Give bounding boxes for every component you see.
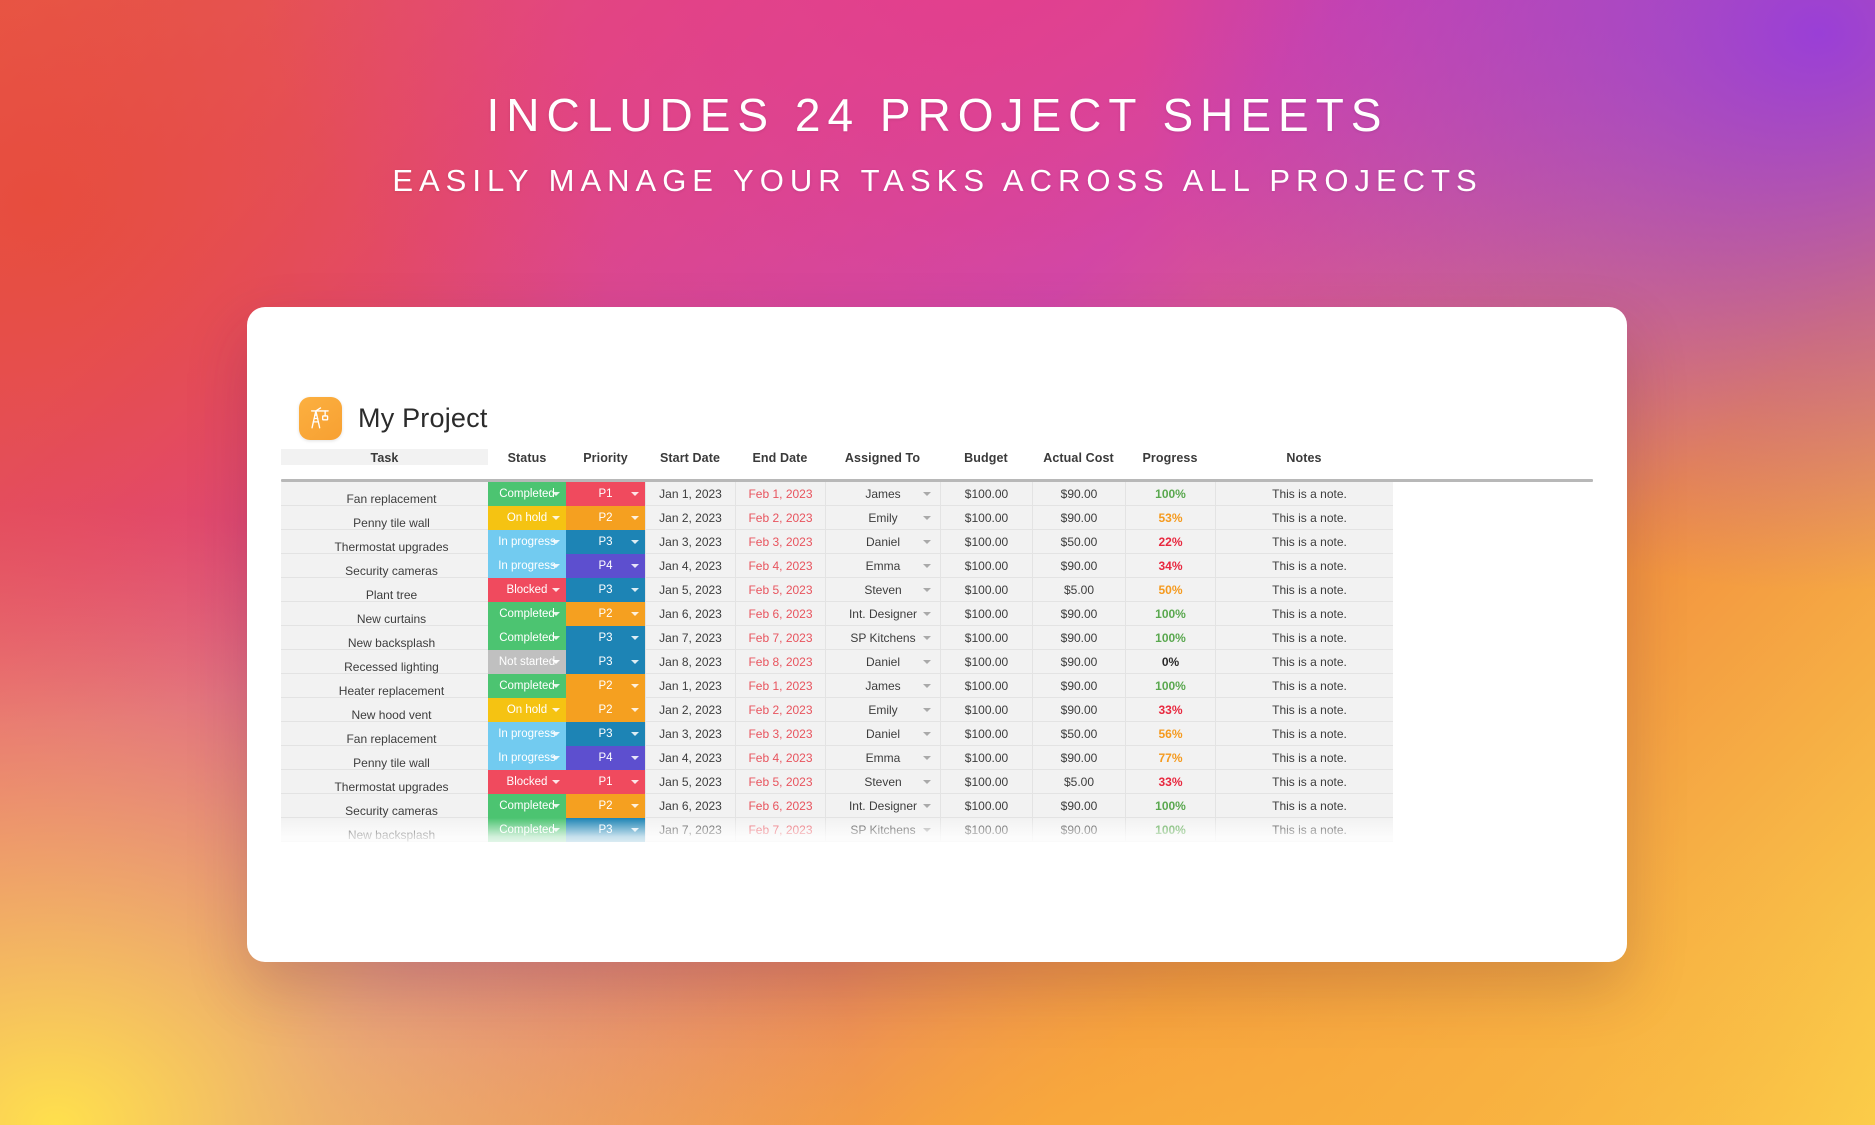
cell-start-date[interactable]: Jan 6, 2023 — [645, 602, 735, 626]
cell-assigned-to[interactable]: Int. Designer — [825, 602, 940, 626]
cell-actual-cost[interactable]: $5.00 — [1032, 578, 1125, 602]
construction-crane-icon — [299, 397, 342, 440]
cell-budget[interactable]: $100.00 — [940, 770, 1032, 794]
cell-task[interactable]: New backsplash — [281, 818, 488, 842]
cell-priority[interactable]: P3 — [566, 626, 645, 650]
task-label: Fan replacement — [346, 492, 436, 506]
cell-task[interactable]: Penny tile wall — [281, 746, 488, 770]
chevron-down-icon — [552, 516, 560, 520]
table-row[interactable]: Plant treeBlockedP3Jan 5, 2023Feb 5, 202… — [281, 578, 1593, 602]
status-badge[interactable]: Completed — [488, 602, 566, 626]
project-header: My Project — [299, 397, 488, 440]
chevron-down-icon — [552, 660, 560, 664]
banner-subtitle: EASILY MANAGE YOUR TASKS ACROSS ALL PROJ… — [0, 165, 1875, 196]
task-label: New hood vent — [351, 708, 431, 722]
cell-budget[interactable]: $100.00 — [940, 722, 1032, 746]
cell-notes[interactable]: This is a note. — [1215, 602, 1393, 626]
chevron-down-icon — [552, 612, 560, 616]
cell-progress[interactable]: 50% — [1125, 578, 1215, 602]
table-header-row: Task Status Priority Start Date End Date… — [281, 449, 1593, 475]
cell-actual-cost[interactable]: $50.00 — [1032, 530, 1125, 554]
cell-status[interactable]: On hold — [488, 506, 566, 530]
cell-priority[interactable]: P2 — [566, 698, 645, 722]
cell-end-date[interactable]: Feb 4, 2023 — [735, 554, 825, 578]
cell-priority[interactable]: P1 — [566, 770, 645, 794]
col-header-budget: Budget — [940, 449, 1032, 465]
chevron-down-icon — [552, 732, 560, 736]
cell-assigned-to[interactable]: Daniel — [825, 650, 940, 674]
cell-budget[interactable]: $100.00 — [940, 746, 1032, 770]
cell-progress[interactable]: 77% — [1125, 746, 1215, 770]
chevron-down-icon — [923, 780, 931, 784]
table-row[interactable]: New curtainsCompletedP2Jan 6, 2023Feb 6,… — [281, 602, 1593, 626]
status-badge[interactable]: In progress — [488, 746, 566, 770]
cell-status[interactable]: In progress — [488, 530, 566, 554]
priority-badge[interactable]: P2 — [566, 506, 645, 530]
task-label: Penny tile wall — [353, 756, 430, 770]
cell-task[interactable]: Plant tree — [281, 578, 488, 602]
chevron-down-icon — [923, 564, 931, 568]
cell-status[interactable]: Completed — [488, 626, 566, 650]
cell-status[interactable]: Completed — [488, 794, 566, 818]
priority-badge[interactable]: P2 — [566, 698, 645, 722]
cell-end-date[interactable]: Feb 6, 2023 — [735, 794, 825, 818]
status-badge[interactable]: Completed — [488, 482, 566, 506]
chevron-down-icon — [923, 540, 931, 544]
cell-start-date[interactable]: Jan 7, 2023 — [645, 818, 735, 842]
cell-budget[interactable]: $100.00 — [940, 674, 1032, 698]
cell-start-date[interactable]: Jan 1, 2023 — [645, 674, 735, 698]
table-row[interactable]: New hood ventOn holdP2Jan 2, 2023Feb 2, … — [281, 698, 1593, 722]
cell-start-date[interactable]: Jan 5, 2023 — [645, 770, 735, 794]
chevron-down-icon — [631, 564, 639, 568]
cell-priority[interactable]: P1 — [566, 482, 645, 506]
col-header-progress: Progress — [1125, 449, 1215, 465]
cell-end-date[interactable]: Feb 3, 2023 — [735, 530, 825, 554]
cell-end-date[interactable]: Feb 6, 2023 — [735, 602, 825, 626]
cell-assigned-to[interactable]: James — [825, 482, 940, 506]
cell-task[interactable]: Security cameras — [281, 794, 488, 818]
chevron-down-icon — [552, 780, 560, 784]
cell-notes[interactable]: This is a note. — [1215, 770, 1393, 794]
cell-budget[interactable]: $100.00 — [940, 794, 1032, 818]
chevron-down-icon — [631, 780, 639, 784]
cell-notes[interactable]: This is a note. — [1215, 578, 1393, 602]
task-label: New backsplash — [348, 636, 435, 650]
chevron-down-icon — [631, 708, 639, 712]
status-badge[interactable]: Not started — [488, 650, 566, 674]
table-row[interactable]: Fan replacementIn progressP3Jan 3, 2023F… — [281, 722, 1593, 746]
priority-badge[interactable]: P3 — [566, 578, 645, 602]
priority-badge[interactable]: P3 — [566, 722, 645, 746]
cell-assigned-to[interactable]: Daniel — [825, 722, 940, 746]
cell-priority[interactable]: P2 — [566, 506, 645, 530]
table-row[interactable]: Fan replacementCompletedP1Jan 1, 2023Feb… — [281, 482, 1593, 506]
cell-budget[interactable]: $100.00 — [940, 818, 1032, 842]
chevron-down-icon — [631, 660, 639, 664]
status-badge[interactable]: Blocked — [488, 578, 566, 602]
cell-actual-cost[interactable]: $90.00 — [1032, 482, 1125, 506]
cell-budget[interactable]: $100.00 — [940, 482, 1032, 506]
cell-task[interactable]: Recessed lighting — [281, 650, 488, 674]
cell-priority[interactable]: P3 — [566, 818, 645, 842]
cell-actual-cost[interactable]: $90.00 — [1032, 818, 1125, 842]
cell-assigned-to[interactable]: Steven — [825, 770, 940, 794]
chevron-down-icon — [631, 492, 639, 496]
cell-end-date[interactable]: Feb 8, 2023 — [735, 650, 825, 674]
cell-task[interactable]: Fan replacement — [281, 722, 488, 746]
cell-assigned-to[interactable]: Daniel — [825, 530, 940, 554]
cell-progress[interactable]: 22% — [1125, 530, 1215, 554]
priority-badge[interactable]: P3 — [566, 530, 645, 554]
cell-status[interactable]: Not started — [488, 650, 566, 674]
cell-actual-cost[interactable]: $90.00 — [1032, 746, 1125, 770]
cell-assigned-to[interactable]: Emily — [825, 506, 940, 530]
cell-task[interactable]: Thermostat upgrades — [281, 770, 488, 794]
col-header-assigned-to: Assigned To — [825, 449, 940, 465]
chevron-down-icon — [631, 588, 639, 592]
cell-progress[interactable]: 100% — [1125, 818, 1215, 842]
cell-priority[interactable]: P3 — [566, 650, 645, 674]
status-badge[interactable]: In progress — [488, 722, 566, 746]
cell-status[interactable]: Blocked — [488, 578, 566, 602]
cell-start-date[interactable]: Jan 3, 2023 — [645, 530, 735, 554]
priority-badge[interactable]: P3 — [566, 818, 645, 842]
chevron-down-icon — [923, 492, 931, 496]
cell-end-date[interactable]: Feb 2, 2023 — [735, 506, 825, 530]
cell-actual-cost[interactable]: $90.00 — [1032, 626, 1125, 650]
cell-priority[interactable]: P4 — [566, 746, 645, 770]
col-header-actual-cost: Actual Cost — [1032, 449, 1125, 465]
col-header-task: Task — [281, 449, 488, 465]
chevron-down-icon — [923, 516, 931, 520]
cell-end-date[interactable]: Feb 4, 2023 — [735, 746, 825, 770]
priority-badge[interactable]: P2 — [566, 674, 645, 698]
priority-badge[interactable]: P1 — [566, 482, 645, 506]
cell-priority[interactable]: P3 — [566, 578, 645, 602]
cell-assigned-to[interactable]: Int. Designer — [825, 794, 940, 818]
cell-start-date[interactable]: Jan 1, 2023 — [645, 482, 735, 506]
col-header-notes: Notes — [1215, 449, 1393, 465]
promo-banner: INCLUDES 24 PROJECT SHEETS EASILY MANAGE… — [0, 92, 1875, 196]
cell-start-date[interactable]: Jan 2, 2023 — [645, 698, 735, 722]
chevron-down-icon — [631, 732, 639, 736]
cell-progress[interactable]: 56% — [1125, 722, 1215, 746]
cell-notes[interactable]: This is a note. — [1215, 626, 1393, 650]
cell-notes[interactable]: This is a note. — [1215, 482, 1393, 506]
cell-priority[interactable]: P3 — [566, 530, 645, 554]
chevron-down-icon — [552, 588, 560, 592]
cell-budget[interactable]: $100.00 — [940, 506, 1032, 530]
cell-assigned-to[interactable]: SP Kitchens — [825, 818, 940, 842]
table-row[interactable]: Thermostat upgradesIn progressP3Jan 3, 2… — [281, 530, 1593, 554]
cell-end-date[interactable]: Feb 3, 2023 — [735, 722, 825, 746]
cell-priority[interactable]: P2 — [566, 602, 645, 626]
table-row[interactable]: Penny tile wallOn holdP2Jan 2, 2023Feb 2… — [281, 506, 1593, 530]
table-row[interactable]: Security camerasCompletedP2Jan 6, 2023Fe… — [281, 794, 1593, 818]
table-row[interactable]: Heater replacementCompletedP2Jan 1, 2023… — [281, 674, 1593, 698]
cell-end-date[interactable]: Feb 5, 2023 — [735, 578, 825, 602]
cell-start-date[interactable]: Jan 5, 2023 — [645, 578, 735, 602]
cell-progress[interactable]: 100% — [1125, 602, 1215, 626]
cell-assigned-to[interactable]: SP Kitchens — [825, 626, 940, 650]
cell-status[interactable]: On hold — [488, 698, 566, 722]
task-label: Penny tile wall — [353, 516, 430, 530]
cell-actual-cost[interactable]: $5.00 — [1032, 770, 1125, 794]
col-header-status: Status — [488, 449, 566, 465]
cell-notes[interactable]: This is a note. — [1215, 698, 1393, 722]
cell-notes[interactable]: This is a note. — [1215, 554, 1393, 578]
cell-task[interactable]: Penny tile wall — [281, 506, 488, 530]
cell-actual-cost[interactable]: $90.00 — [1032, 650, 1125, 674]
status-badge[interactable]: On hold — [488, 698, 566, 722]
table-body: Fan replacementCompletedP1Jan 1, 2023Feb… — [281, 482, 1593, 852]
chevron-down-icon — [552, 684, 560, 688]
chevron-down-icon — [923, 660, 931, 664]
status-badge[interactable]: On hold — [488, 506, 566, 530]
table-row[interactable]: Recessed lightingNot startedP3Jan 8, 202… — [281, 650, 1593, 674]
chevron-down-icon — [631, 684, 639, 688]
priority-badge[interactable]: P4 — [566, 746, 645, 770]
chevron-down-icon — [552, 540, 560, 544]
status-badge[interactable]: Completed — [488, 794, 566, 818]
status-badge[interactable]: In progress — [488, 530, 566, 554]
chevron-down-icon — [923, 708, 931, 712]
cell-task[interactable]: Fan replacement — [281, 482, 488, 506]
chevron-down-icon — [631, 612, 639, 616]
cell-assigned-to[interactable]: Steven — [825, 578, 940, 602]
chevron-down-icon — [923, 828, 931, 832]
cell-actual-cost[interactable]: $90.00 — [1032, 674, 1125, 698]
table-row[interactable]: New backsplashCompletedP3Jan 7, 2023Feb … — [281, 626, 1593, 650]
task-label: Plant tree — [366, 588, 417, 602]
task-label: Thermostat upgrades — [334, 540, 448, 554]
cell-task[interactable]: Heater replacement — [281, 674, 488, 698]
cell-progress[interactable]: 100% — [1125, 626, 1215, 650]
cell-start-date[interactable]: Jan 2, 2023 — [645, 506, 735, 530]
cell-progress[interactable]: 53% — [1125, 506, 1215, 530]
cell-end-date[interactable]: Feb 2, 2023 — [735, 698, 825, 722]
cell-start-date[interactable]: Jan 7, 2023 — [645, 626, 735, 650]
col-header-priority: Priority — [566, 449, 645, 465]
cell-progress[interactable]: 34% — [1125, 554, 1215, 578]
cell-actual-cost[interactable]: $50.00 — [1032, 722, 1125, 746]
priority-badge[interactable]: P3 — [566, 650, 645, 674]
chevron-down-icon — [631, 540, 639, 544]
cell-progress[interactable]: 100% — [1125, 794, 1215, 818]
priority-badge[interactable]: P1 — [566, 770, 645, 794]
cell-notes[interactable]: This is a note. — [1215, 650, 1393, 674]
cell-task[interactable]: New backsplash — [281, 626, 488, 650]
cell-assigned-to[interactable]: Emma — [825, 554, 940, 578]
cell-priority[interactable]: P4 — [566, 554, 645, 578]
cell-task[interactable]: Thermostat upgrades — [281, 530, 488, 554]
cell-progress[interactable]: 0% — [1125, 650, 1215, 674]
cell-budget[interactable]: $100.00 — [940, 698, 1032, 722]
chevron-down-icon — [552, 708, 560, 712]
cell-actual-cost[interactable]: $90.00 — [1032, 794, 1125, 818]
cell-end-date[interactable]: Feb 7, 2023 — [735, 626, 825, 650]
cell-budget[interactable]: $100.00 — [940, 530, 1032, 554]
cell-task[interactable]: New hood vent — [281, 698, 488, 722]
cell-progress[interactable]: 33% — [1125, 698, 1215, 722]
cell-end-date[interactable]: Feb 1, 2023 — [735, 482, 825, 506]
status-badge[interactable]: In progress — [488, 554, 566, 578]
chevron-down-icon — [552, 564, 560, 568]
priority-badge[interactable]: P2 — [566, 794, 645, 818]
chevron-down-icon — [631, 828, 639, 832]
chevron-down-icon — [923, 588, 931, 592]
cell-budget[interactable]: $100.00 — [940, 578, 1032, 602]
cell-actual-cost[interactable]: $90.00 — [1032, 554, 1125, 578]
cell-progress[interactable]: 100% — [1125, 674, 1215, 698]
cell-budget[interactable]: $100.00 — [940, 650, 1032, 674]
cell-priority[interactable]: P2 — [566, 674, 645, 698]
page-title: My Project — [358, 403, 488, 434]
task-table: Task Status Priority Start Date End Date… — [281, 449, 1593, 852]
cell-status[interactable]: Completed — [488, 602, 566, 626]
cell-status[interactable]: Blocked — [488, 770, 566, 794]
chevron-down-icon — [631, 636, 639, 640]
chevron-down-icon — [923, 756, 931, 760]
task-label: New backsplash — [348, 828, 435, 842]
task-label: Recessed lighting — [344, 660, 439, 674]
chevron-down-icon — [631, 804, 639, 808]
cell-status[interactable]: In progress — [488, 722, 566, 746]
cell-assigned-to[interactable]: Emily — [825, 698, 940, 722]
cell-status[interactable]: Completed — [488, 674, 566, 698]
task-label: Security cameras — [345, 804, 438, 818]
cell-notes[interactable]: This is a note. — [1215, 722, 1393, 746]
table-row[interactable]: Penny tile wallIn progressP4Jan 4, 2023F… — [281, 746, 1593, 770]
cell-task[interactable]: Security cameras — [281, 554, 488, 578]
cell-progress[interactable]: 33% — [1125, 770, 1215, 794]
cell-actual-cost[interactable]: $90.00 — [1032, 698, 1125, 722]
table-row[interactable]: New backsplashCompletedP3Jan 7, 2023Feb … — [281, 818, 1593, 842]
col-header-start-date: Start Date — [645, 449, 735, 465]
chevron-down-icon — [552, 636, 560, 640]
spreadsheet-card: My Project Task Status Priority Start Da… — [247, 307, 1627, 962]
cell-assigned-to[interactable]: James — [825, 674, 940, 698]
chevron-down-icon — [552, 828, 560, 832]
task-label: Thermostat upgrades — [334, 780, 448, 794]
status-badge[interactable]: Completed — [488, 626, 566, 650]
banner-title: INCLUDES 24 PROJECT SHEETS — [0, 92, 1875, 138]
chevron-down-icon — [923, 804, 931, 808]
cell-status[interactable]: Completed — [488, 818, 566, 842]
priority-badge[interactable]: P2 — [566, 602, 645, 626]
priority-badge[interactable]: P3 — [566, 626, 645, 650]
cell-notes[interactable]: This is a note. — [1215, 746, 1393, 770]
chevron-down-icon — [631, 516, 639, 520]
chevron-down-icon — [923, 732, 931, 736]
chevron-down-icon — [552, 804, 560, 808]
cell-start-date[interactable]: Jan 3, 2023 — [645, 722, 735, 746]
cell-assigned-to[interactable]: Emma — [825, 746, 940, 770]
cell-end-date[interactable]: Feb 5, 2023 — [735, 770, 825, 794]
table-row[interactable]: Security camerasIn progressP4Jan 4, 2023… — [281, 554, 1593, 578]
chevron-down-icon — [923, 636, 931, 640]
cell-notes[interactable]: This is a note. — [1215, 530, 1393, 554]
cell-notes[interactable]: This is a note. — [1215, 506, 1393, 530]
cell-start-date[interactable]: Jan 4, 2023 — [645, 746, 735, 770]
chevron-down-icon — [552, 756, 560, 760]
cell-notes[interactable]: This is a note. — [1215, 674, 1393, 698]
cell-start-date[interactable]: Jan 8, 2023 — [645, 650, 735, 674]
cell-task[interactable]: New curtains — [281, 602, 488, 626]
status-badge[interactable]: Completed — [488, 818, 566, 842]
table-row[interactable]: Thermostat upgradesBlockedP1Jan 5, 2023F… — [281, 770, 1593, 794]
cell-status[interactable]: In progress — [488, 746, 566, 770]
cell-end-date[interactable]: Feb 7, 2023 — [735, 818, 825, 842]
priority-badge[interactable]: P4 — [566, 554, 645, 578]
cell-actual-cost[interactable]: $90.00 — [1032, 602, 1125, 626]
cell-notes[interactable]: This is a note. — [1215, 794, 1393, 818]
task-label: Fan replacement — [346, 732, 436, 746]
chevron-down-icon — [631, 756, 639, 760]
cell-progress[interactable]: 100% — [1125, 482, 1215, 506]
task-label: Security cameras — [345, 564, 438, 578]
task-label: New curtains — [357, 612, 426, 626]
cell-priority[interactable]: P2 — [566, 794, 645, 818]
status-badge[interactable]: Blocked — [488, 770, 566, 794]
cell-actual-cost[interactable]: $90.00 — [1032, 506, 1125, 530]
cell-budget[interactable]: $100.00 — [940, 602, 1032, 626]
cell-priority[interactable]: P3 — [566, 722, 645, 746]
cell-start-date[interactable]: Jan 6, 2023 — [645, 794, 735, 818]
cell-start-date[interactable]: Jan 4, 2023 — [645, 554, 735, 578]
chevron-down-icon — [923, 612, 931, 616]
status-badge[interactable]: Completed — [488, 674, 566, 698]
chevron-down-icon — [923, 684, 931, 688]
cell-budget[interactable]: $100.00 — [940, 626, 1032, 650]
task-label: Heater replacement — [339, 684, 444, 698]
cell-end-date[interactable]: Feb 1, 2023 — [735, 674, 825, 698]
chevron-down-icon — [552, 492, 560, 496]
cell-budget[interactable]: $100.00 — [940, 554, 1032, 578]
col-header-end-date: End Date — [735, 449, 825, 465]
cell-notes[interactable]: This is a note. — [1215, 818, 1393, 842]
cell-status[interactable]: In progress — [488, 554, 566, 578]
cell-status[interactable]: Completed — [488, 482, 566, 506]
